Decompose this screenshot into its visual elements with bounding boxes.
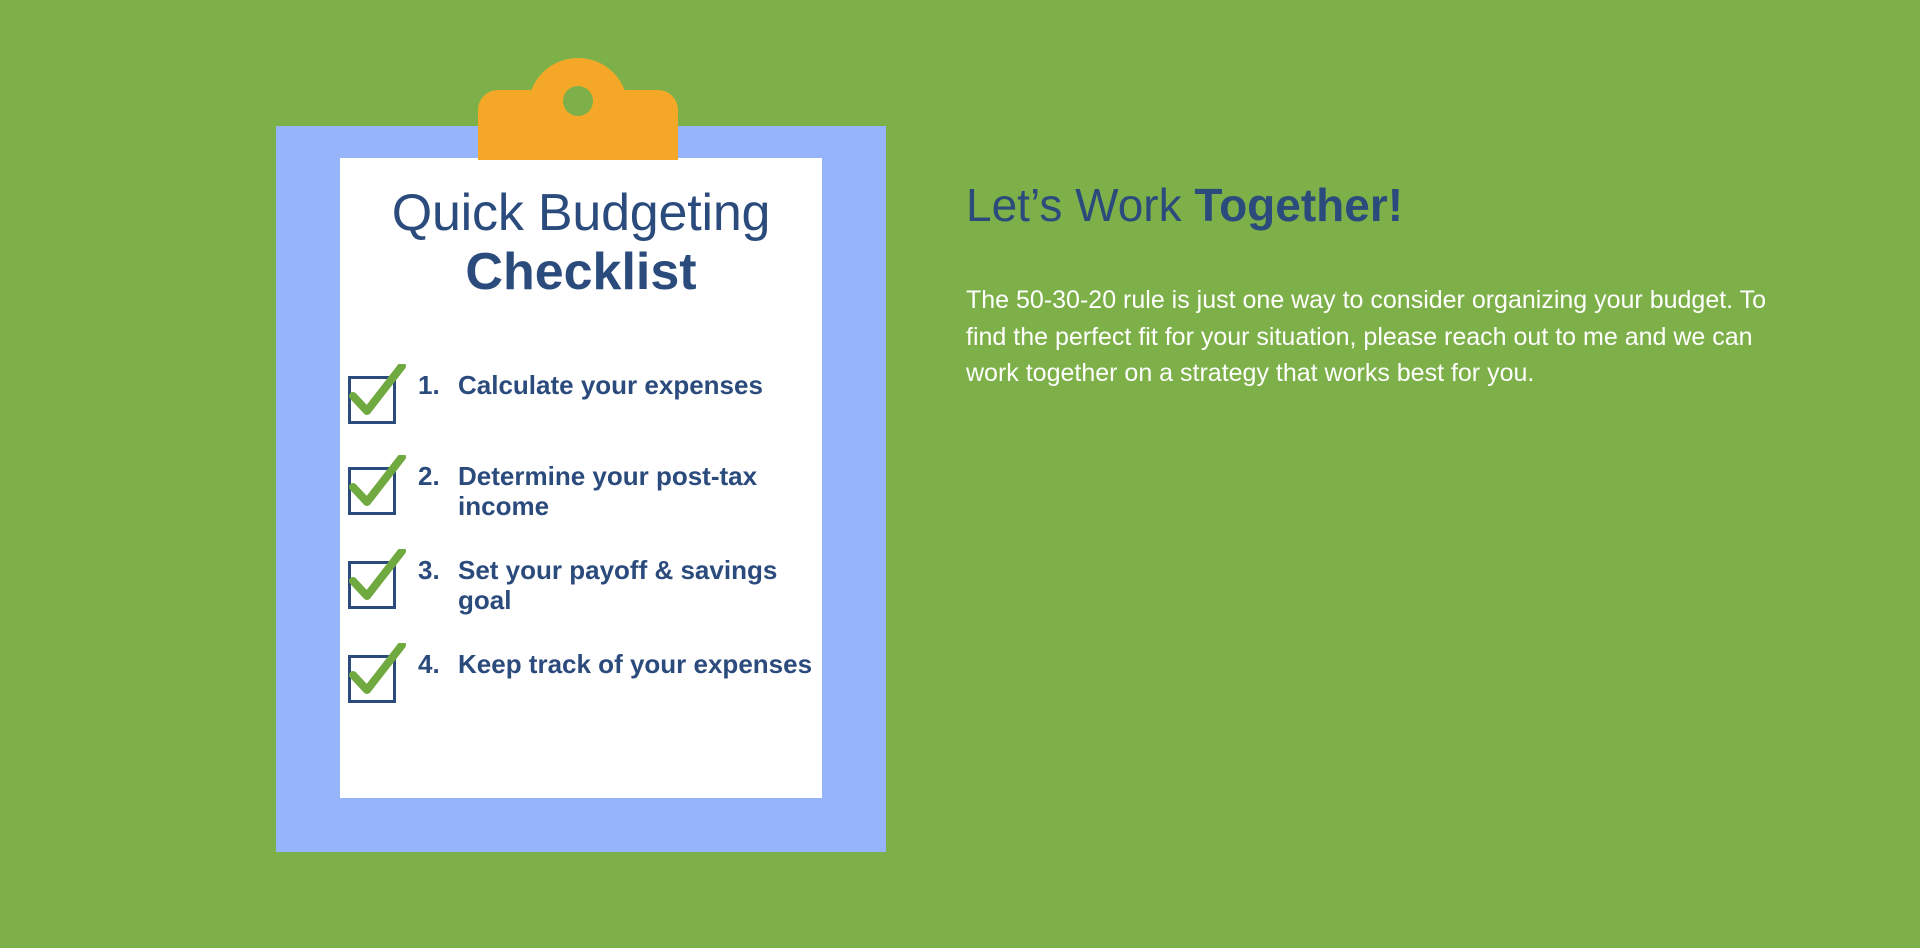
checkbox-checked[interactable]: [346, 553, 406, 613]
checklist-item[interactable]: 1. Calculate your expenses: [340, 362, 822, 428]
clipboard-clip-icon: [478, 58, 678, 160]
checklist-item-label: Calculate your expenses: [458, 370, 763, 400]
checklist-item-text: 4. Keep track of your expenses: [406, 641, 812, 679]
check-mark-icon: [345, 455, 407, 517]
checklist-item-list: 1. Calculate your expenses 2. Determine …: [340, 362, 822, 732]
checkbox-checked[interactable]: [346, 647, 406, 707]
check-mark-icon: [345, 364, 407, 426]
checklist-title-line2: Checklist: [340, 245, 822, 300]
checklist-item-number: 4.: [418, 649, 446, 679]
checklist-item-text: 1. Calculate your expenses: [406, 362, 763, 400]
checklist-item[interactable]: 2. Determine your post-tax income: [340, 453, 822, 522]
checklist-item-label: Set your payoff & savings goal: [458, 555, 822, 616]
checkbox-checked[interactable]: [346, 459, 406, 519]
checklist-title: Quick Budgeting Checklist: [340, 186, 822, 300]
checklist-item[interactable]: 3. Set your payoff & savings goal: [340, 547, 822, 616]
checklist-item-number: 1.: [418, 370, 446, 400]
checklist-item-label: Keep track of your expenses: [458, 649, 812, 679]
checklist-item-text: 3. Set your payoff & savings goal: [406, 547, 822, 616]
cta-heading-light: Let’s Work: [966, 179, 1194, 231]
checklist-item[interactable]: 4. Keep track of your expenses: [340, 641, 822, 707]
cta-heading: Let’s Work Together!: [966, 180, 1403, 231]
budgeting-checklist-clipboard: Quick Budgeting Checklist 1. Calculate y…: [276, 126, 886, 852]
checklist-item-number: 3.: [418, 555, 446, 616]
cta-panel: Let’s Work Together! The 50-30-20 rule i…: [966, 0, 1920, 948]
check-mark-icon: [345, 549, 407, 611]
checklist-item-label: Determine your post-tax income: [458, 461, 822, 522]
checklist-item-number: 2.: [418, 461, 446, 522]
check-mark-icon: [345, 643, 407, 705]
checkbox-checked[interactable]: [346, 368, 406, 428]
checklist-title-line1: Quick Budgeting: [340, 186, 822, 241]
checklist-item-text: 2. Determine your post-tax income: [406, 453, 822, 522]
cta-heading-bold: Together!: [1194, 179, 1403, 231]
cta-body-text: The 50-30-20 rule is just one way to con…: [966, 282, 1776, 392]
clip-hole-shape: [563, 86, 593, 116]
